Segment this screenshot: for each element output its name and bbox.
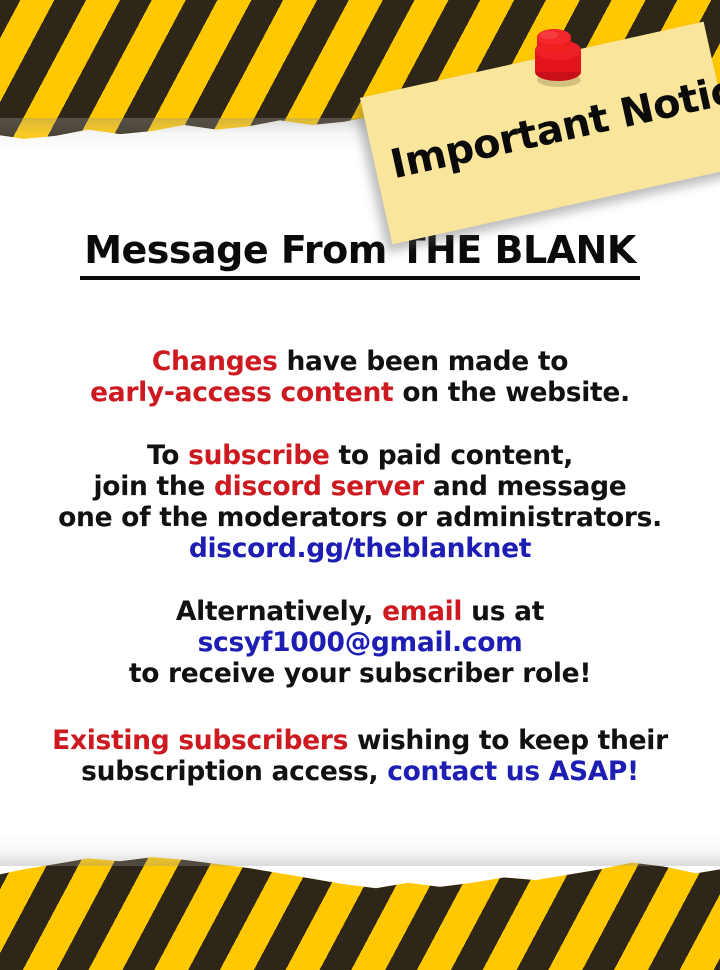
torn-paper-edge-bottom	[0, 832, 720, 866]
text-run: discord server	[214, 471, 424, 502]
page-title: Message From THE BLANK	[80, 228, 640, 280]
text-line: early-access content on the website.	[0, 377, 720, 408]
text-run: to paid content,	[330, 440, 573, 471]
existing-subscribers-block: Existing subscribers wishing to keep the…	[0, 725, 720, 787]
text-run: on the website.	[393, 377, 629, 408]
email-block: Alternatively, email us atscsyf1000@gmai…	[0, 596, 720, 689]
text-run[interactable]: contact us ASAP!	[387, 756, 639, 787]
text-line: join the discord server and message	[0, 471, 720, 502]
text-run: have been made to	[278, 346, 569, 377]
page-title-prefix: Message From	[84, 228, 399, 272]
text-line: discord.gg/theblanknet	[0, 533, 720, 564]
text-line: to receive your subscriber role!	[0, 658, 720, 689]
text-run: Existing subscribers	[52, 725, 348, 756]
text-line: Alternatively, email us at	[0, 596, 720, 627]
text-run: and message	[424, 471, 627, 502]
text-run: one of the moderators or administrators.	[58, 502, 662, 533]
subscribe-block: To subscribe to paid content,join the di…	[0, 440, 720, 564]
pushpin-icon	[527, 28, 589, 90]
text-run[interactable]: discord.gg/theblanknet	[189, 533, 531, 564]
text-line: Existing subscribers wishing to keep the…	[0, 725, 720, 756]
text-line: To subscribe to paid content,	[0, 440, 720, 471]
text-line: scsyf1000@gmail.com	[0, 627, 720, 658]
text-run: us at	[462, 596, 544, 627]
text-run: wishing to keep their	[348, 725, 668, 756]
text-run: join the	[94, 471, 215, 502]
text-run: subscription access,	[81, 756, 387, 787]
text-line: one of the moderators or administrators.	[0, 502, 720, 533]
notice-content: Message From THE BLANK Changes have been…	[0, 228, 720, 787]
text-run: Changes	[152, 346, 278, 377]
notice-poster: Important Notice Message From THE BLANK …	[0, 0, 720, 970]
changes-block: Changes have been made toearly-access co…	[0, 346, 720, 408]
text-run: to receive your subscriber role!	[129, 658, 591, 689]
text-line: Changes have been made to	[0, 346, 720, 377]
text-run: Alternatively,	[176, 596, 382, 627]
text-run: early-access content	[90, 377, 393, 408]
text-run[interactable]: scsyf1000@gmail.com	[198, 627, 523, 658]
text-line: subscription access, contact us ASAP!	[0, 756, 720, 787]
text-run: subscribe	[188, 440, 330, 471]
text-run: email	[382, 596, 462, 627]
text-run: To	[147, 440, 188, 471]
